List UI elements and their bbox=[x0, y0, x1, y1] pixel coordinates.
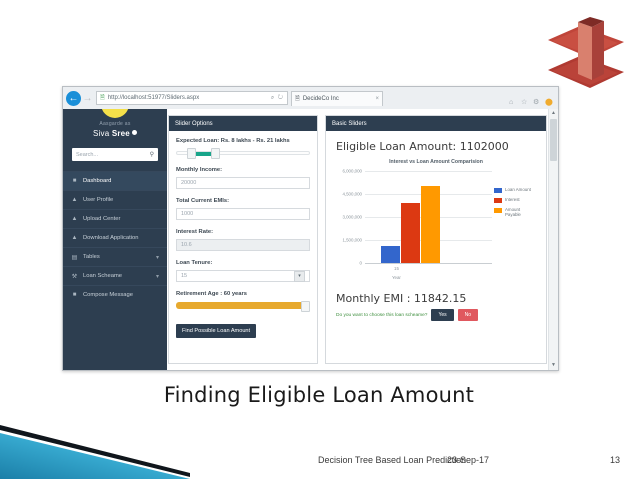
legend-swatch bbox=[494, 198, 502, 203]
slider-options-header: Slider Options bbox=[169, 116, 317, 131]
sidebar-search[interactable]: Search... ⚲ bbox=[72, 148, 158, 161]
forward-icon[interactable]: → bbox=[81, 91, 94, 106]
confirm-row: Do you want to choose this loan scheame?… bbox=[336, 309, 536, 321]
tab-title: DecideCo Inc bbox=[303, 96, 339, 102]
browser-toolbar: ← → 🗎 http://localhost:51977/Sliders.asp… bbox=[63, 87, 558, 109]
sidebar-item-label: Compose Message bbox=[83, 292, 133, 298]
range-handle-max[interactable] bbox=[211, 148, 220, 159]
settings-gear-icon[interactable]: ⚙ bbox=[533, 99, 540, 106]
monthly-income-label: Monthly Income: bbox=[176, 167, 310, 173]
bar-loan-amount bbox=[381, 246, 400, 263]
monthly-emi-title: Monthly EMI : 11842.15 bbox=[336, 292, 536, 305]
basic-sliders-panel: Basic Sliders Eligible Loan Amount: 1102… bbox=[325, 115, 547, 364]
bar-interest bbox=[401, 203, 420, 263]
browser-window: – □ × ← → 🗎 http://localhost:51977/Slide… bbox=[62, 86, 559, 371]
slide-footer: Decision Tree Based Loan Prediction 23-S… bbox=[0, 455, 638, 475]
page-icon: 🗎 bbox=[100, 93, 105, 103]
sidebar-username: Siva Sree bbox=[69, 129, 161, 138]
loan-tenure-value: 15 bbox=[181, 273, 187, 279]
search-icon[interactable]: ⚲ bbox=[150, 151, 154, 158]
loan-tenure-select[interactable]: 15 ▾ bbox=[176, 270, 310, 282]
retirement-age-slider[interactable] bbox=[176, 301, 310, 309]
tab-close-icon[interactable]: × bbox=[375, 96, 379, 102]
sidebar-item-download-application[interactable]: ▲ Download Application bbox=[63, 228, 167, 247]
chevron-down-icon: ▾ bbox=[156, 273, 159, 280]
status-dot bbox=[132, 130, 137, 135]
x-tick-label: 15 bbox=[394, 266, 399, 271]
retirement-age-label: Retirement Age : 60 years bbox=[176, 291, 310, 297]
sidebar-item-label: Loan Scheame bbox=[83, 273, 122, 279]
search-go-icon[interactable]: ⌕ ↻ bbox=[271, 95, 284, 102]
back-icon[interactable]: ← bbox=[66, 91, 81, 106]
y-tick-label: 1,500,000 bbox=[336, 238, 362, 243]
legend-label: Amount Payable bbox=[505, 207, 536, 217]
chart-legend: Loan Amount Interest Amount Payable bbox=[494, 187, 536, 221]
range-track bbox=[176, 302, 310, 309]
sidebar-item-dashboard[interactable]: ■ Dashboard bbox=[63, 171, 167, 190]
legend-label: Interest bbox=[505, 197, 520, 203]
no-button[interactable]: No bbox=[458, 309, 478, 321]
total-emis-input[interactable]: 1000 bbox=[176, 208, 310, 220]
download-icon: ▲ bbox=[71, 235, 78, 241]
monthly-income-input[interactable]: 20000 bbox=[176, 177, 310, 189]
avatar bbox=[101, 109, 129, 118]
footer-date: 23-Sep-17 bbox=[447, 455, 489, 465]
y-tick-label: 6,000,000 bbox=[336, 169, 362, 174]
slider-options-body: Expected Loan: Rs. 8 lakhs - Rs. 21 lakh… bbox=[169, 131, 317, 346]
legend-label: Loan Amount bbox=[505, 187, 531, 193]
x-axis-label: Year bbox=[392, 275, 401, 280]
username-last: Sree bbox=[112, 129, 130, 138]
footer-title: Decision Tree Based Loan Prediction bbox=[318, 455, 466, 465]
chart-title: Interest vs Loan Amount Comparision bbox=[336, 159, 536, 165]
yes-button[interactable]: Yes bbox=[431, 309, 453, 321]
sidebar-greeting: Aasgarde as bbox=[69, 121, 161, 127]
slider-options-panel: Slider Options Expected Loan: Rs. 8 lakh… bbox=[168, 115, 318, 364]
range-handle[interactable] bbox=[301, 301, 310, 312]
home-icon[interactable]: ⌂ bbox=[509, 99, 516, 106]
user-icon: ▲ bbox=[71, 197, 78, 203]
message-icon: ■ bbox=[71, 292, 78, 298]
username-first: Siva bbox=[93, 129, 112, 138]
slide-title: Finding Eligible Loan Amount bbox=[0, 383, 638, 407]
decorative-logo bbox=[538, 14, 630, 96]
basic-sliders-header: Basic Sliders bbox=[326, 116, 546, 131]
chart-plot-area: 6,000,000 4,500,000 3,000,000 1,500,000 … bbox=[336, 171, 536, 283]
table-icon: ▤ bbox=[71, 254, 78, 261]
scroll-up-icon[interactable]: ▲ bbox=[549, 109, 558, 118]
sidebar-item-label: Tables bbox=[83, 254, 100, 260]
brand-block: Aasgarde as Siva Sree bbox=[63, 109, 167, 146]
url-text: http://localhost:51977/Sliders.aspx bbox=[108, 95, 199, 101]
page-scrollbar[interactable]: ▲ ▼ bbox=[548, 109, 558, 370]
legend-swatch bbox=[494, 188, 502, 193]
sidebar-item-loan-scheame[interactable]: ⚒ Loan Scheame ▾ bbox=[63, 266, 167, 285]
favorites-star-icon[interactable]: ☆ bbox=[521, 99, 528, 106]
sidebar-item-compose-message[interactable]: ■ Compose Message bbox=[63, 285, 167, 304]
legend-item-loan-amount: Loan Amount bbox=[494, 187, 536, 193]
chart-bars bbox=[381, 171, 461, 263]
interest-rate-input[interactable]: 10.6 bbox=[176, 239, 310, 251]
sidebar-item-label: Upload Center bbox=[83, 216, 120, 222]
find-possible-loan-amount-button[interactable]: Find Possible Loan Amount bbox=[176, 324, 256, 338]
y-tick-label: 3,000,000 bbox=[336, 215, 362, 220]
loan-tenure-label: Loan Tenure: bbox=[176, 260, 310, 266]
sidebar-item-label: Download Application bbox=[83, 235, 138, 241]
expected-loan-label: Expected Loan: Rs. 8 lakhs - Rs. 21 lakh… bbox=[176, 138, 310, 144]
expected-loan-range-slider[interactable] bbox=[176, 148, 310, 157]
legend-swatch bbox=[494, 208, 502, 213]
interest-rate-label: Interest Rate: bbox=[176, 229, 310, 235]
sidebar-item-label: User Profile bbox=[83, 197, 113, 203]
sidebar-item-tables[interactable]: ▤ Tables ▾ bbox=[63, 247, 167, 266]
scrollbar-thumb[interactable] bbox=[550, 119, 557, 161]
sidebar-item-label: Dashboard bbox=[83, 178, 111, 184]
y-tick-label: 4,500,000 bbox=[336, 192, 362, 197]
wrench-icon: ⚒ bbox=[71, 273, 78, 280]
app-sidebar: Aasgarde as Siva Sree Search... ⚲ ■ Dash… bbox=[63, 109, 167, 370]
upload-icon: ▲ bbox=[71, 216, 78, 222]
page-viewport: Aasgarde as Siva Sree Search... ⚲ ■ Dash… bbox=[63, 109, 558, 370]
eligible-loan-amount-title: Eligible Loan Amount: 1102000 bbox=[336, 140, 536, 153]
confirm-question: Do you want to choose this loan scheame? bbox=[336, 313, 427, 318]
total-emis-label: Total Current EMIs: bbox=[176, 198, 310, 204]
sidebar-item-upload-center[interactable]: ▲ Upload Center bbox=[63, 209, 167, 228]
favorites-bar: ⌂ ☆ ⚙ ⬤ bbox=[509, 99, 552, 106]
x-axis-line bbox=[365, 263, 492, 264]
bar-amount-payable bbox=[421, 186, 440, 263]
scroll-down-icon[interactable]: ▼ bbox=[549, 361, 558, 370]
notification-icon[interactable]: ⬤ bbox=[545, 99, 552, 106]
interest-vs-loan-chart: Interest vs Loan Amount Comparision 6,00… bbox=[336, 159, 536, 289]
chevron-down-icon: ▾ bbox=[156, 254, 159, 261]
basic-sliders-body: Eligible Loan Amount: 1102000 Interest v… bbox=[326, 131, 546, 330]
legend-item-amount-payable: Amount Payable bbox=[494, 207, 536, 217]
y-tick-label: 0 bbox=[336, 261, 362, 266]
page-number: 13 bbox=[610, 455, 620, 465]
sidebar-item-user-profile[interactable]: ▲ User Profile bbox=[63, 190, 167, 209]
range-handle-min[interactable] bbox=[187, 148, 196, 159]
tab-favicon: 🗎 bbox=[295, 94, 300, 104]
address-bar[interactable]: 🗎 http://localhost:51977/Sliders.aspx ⌕ … bbox=[96, 91, 288, 105]
legend-item-interest: Interest bbox=[494, 197, 536, 203]
dashboard-icon: ■ bbox=[71, 178, 78, 184]
chevron-down-icon[interactable]: ▾ bbox=[294, 271, 305, 282]
browser-tab[interactable]: 🗎 DecideCo Inc × bbox=[291, 91, 383, 106]
search-placeholder: Search... bbox=[76, 152, 98, 158]
